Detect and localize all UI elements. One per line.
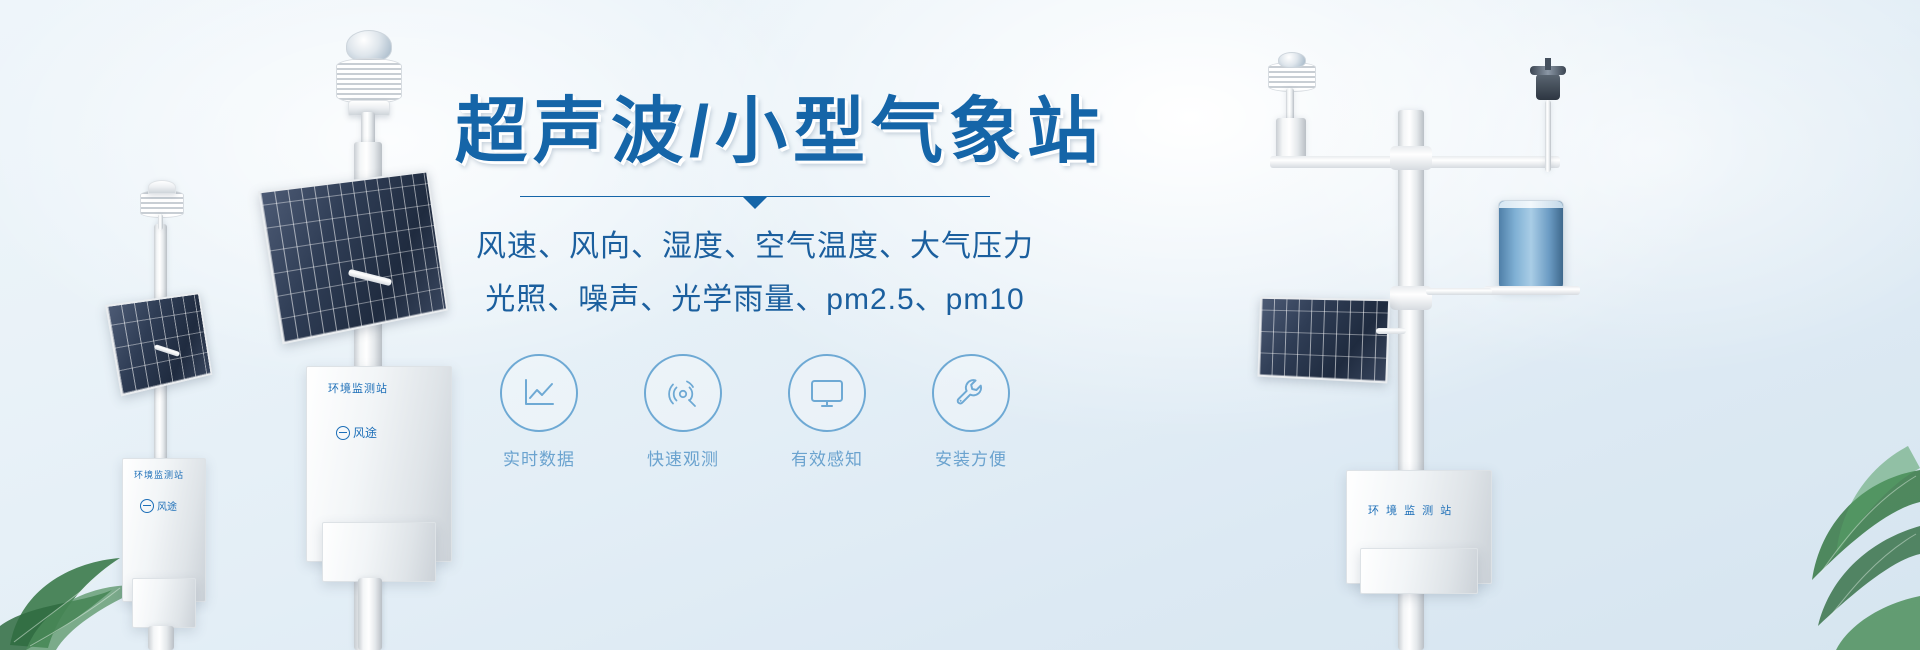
brand-mark-icon-center	[336, 426, 350, 440]
leaf-decoration-right	[1680, 350, 1920, 650]
feature-item-effective-sensing[interactable]: 有效感知	[778, 354, 876, 470]
feature-item-realtime-data[interactable]: 实时数据	[490, 354, 588, 470]
banner-content: 超声波/小型气象站 风速、风向、湿度、空气温度、大气压力 光照、噪声、光学雨量、…	[455, 96, 1055, 470]
station-label-right: 环 境 监 测 站	[1368, 502, 1453, 518]
caret-down-icon	[742, 196, 768, 209]
weather-station-left: 环境监测站 风途	[108, 180, 258, 650]
feature-icon-circle	[788, 354, 866, 432]
station-label-center: 环境监测站	[328, 380, 388, 396]
line-chart-icon	[521, 376, 557, 410]
station-label-left: 环境监测站	[134, 468, 184, 481]
feature-icon-circle	[932, 354, 1010, 432]
feature-item-easy-installation[interactable]: 安装方便	[922, 354, 1020, 470]
feature-icon-circle	[500, 354, 578, 432]
feature-label: 实时数据	[490, 445, 588, 470]
monitor-screen-icon	[809, 377, 845, 409]
brand-logo-left: 风途	[140, 498, 177, 513]
radar-signal-icon	[665, 375, 701, 411]
wrench-tool-icon	[953, 375, 989, 411]
feature-item-fast-observation[interactable]: 快速观测	[634, 354, 732, 470]
brand-logo-center: 风途	[336, 424, 377, 441]
feature-label: 安装方便	[922, 445, 1020, 470]
page-title: 超声波/小型气象站	[455, 96, 1055, 168]
brand-name-center: 风途	[353, 424, 377, 441]
feature-label: 快速观测	[634, 445, 732, 470]
feature-list: 实时数据 快速观测	[455, 354, 1055, 470]
subtitle-line-1: 风速、风向、湿度、空气温度、大气压力	[455, 223, 1055, 272]
brand-mark-icon	[140, 499, 154, 513]
title-divider	[520, 196, 990, 197]
brand-name-left: 风途	[157, 498, 177, 513]
weather-station-right: 环 境 监 测 站	[1250, 50, 1590, 650]
subtitle-line-2: 光照、噪声、光学雨量、pm2.5、pm10	[455, 276, 1055, 325]
product-banner: 环境监测站 风途 环境监测站 风途	[0, 0, 1920, 650]
feature-icon-circle	[644, 354, 722, 432]
feature-label: 有效感知	[778, 445, 876, 470]
